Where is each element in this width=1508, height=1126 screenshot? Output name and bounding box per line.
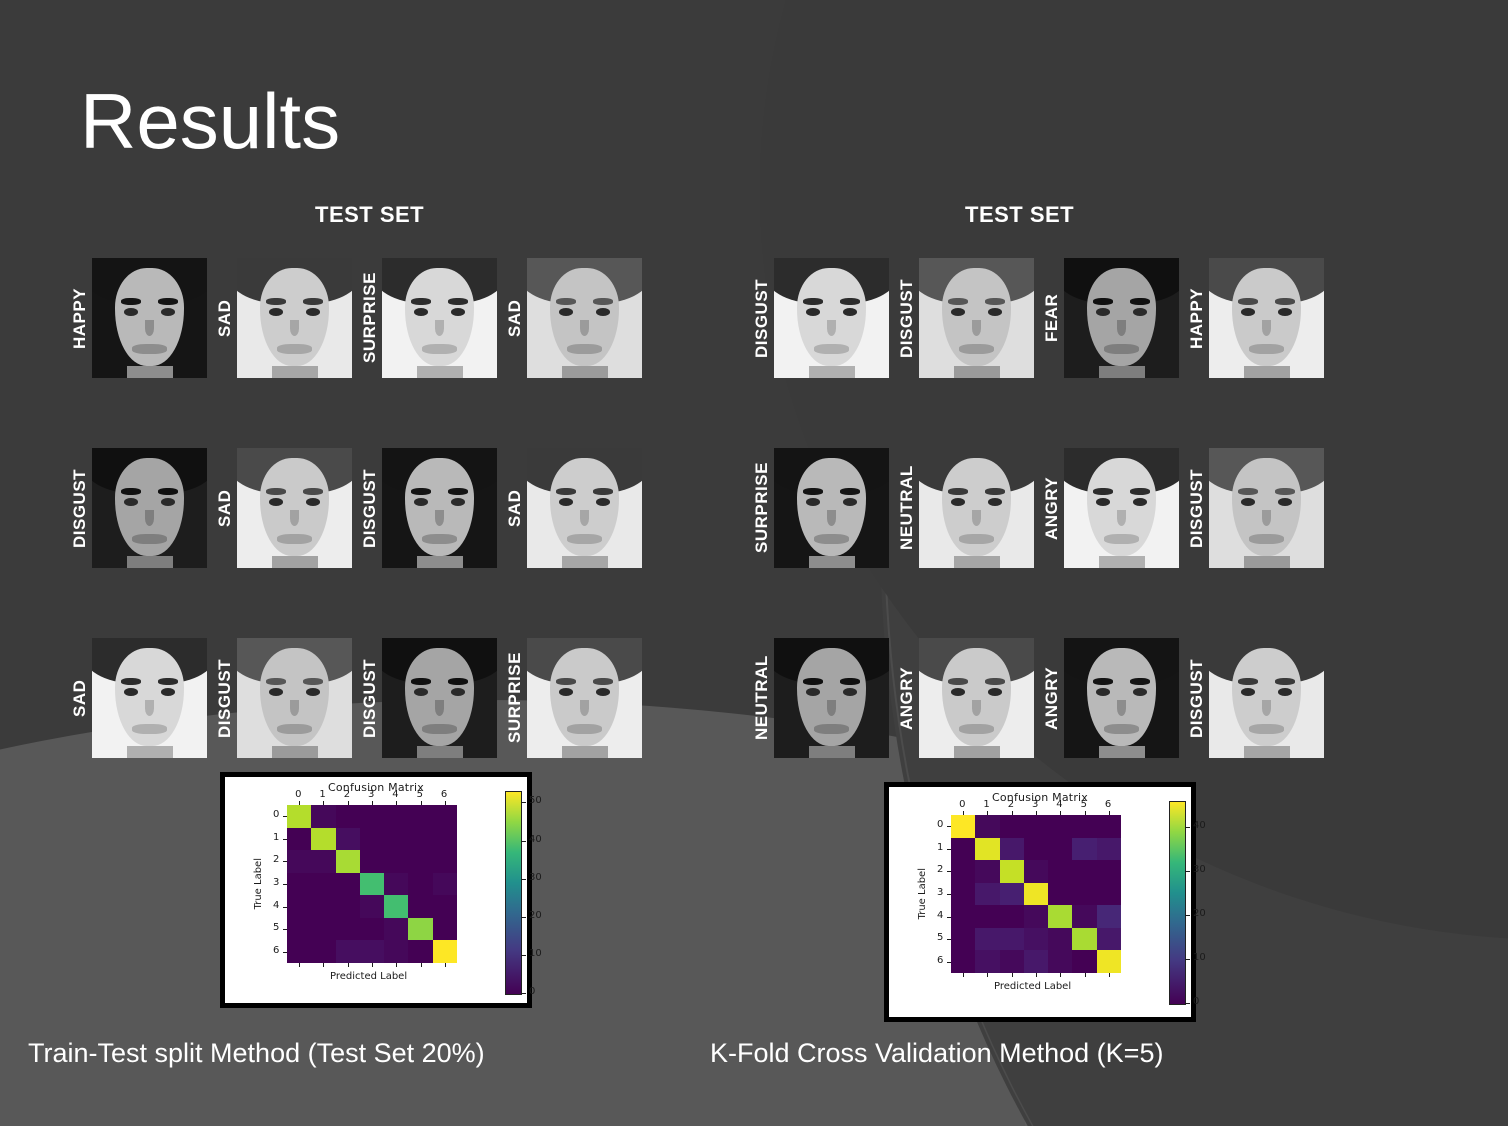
face-emotion-label: SAD (505, 448, 525, 568)
colorbar-tick-label: 10 (529, 948, 542, 959)
face-emotion-label: DISGUST (897, 258, 917, 378)
x-tick-label: 5 (417, 789, 423, 800)
x-tick-mark (1109, 811, 1110, 815)
face-thumbnail (237, 638, 352, 758)
x-tick-mark (396, 801, 397, 805)
x-tick-mark (421, 801, 422, 805)
confusion-matrix-cell (433, 850, 457, 873)
face-sample: SAD (505, 258, 642, 378)
face-sample: ANGRY (1042, 448, 1179, 568)
confusion-matrix-cell (360, 918, 384, 941)
y-tick-mark (283, 907, 287, 908)
face-emotion-label: NEUTRAL (897, 448, 917, 568)
confusion-matrix-cell (1048, 950, 1072, 973)
confusion-matrix-cell (384, 940, 408, 963)
y-tick-label: 2 (273, 854, 279, 865)
face-emotion-label: DISGUST (70, 448, 90, 568)
confusion-matrix-cell (1000, 950, 1024, 973)
x-tick-mark-bottom (1060, 973, 1061, 977)
colorbar-tick-mark (521, 802, 526, 803)
x-tick-mark (348, 801, 349, 805)
colorbar-tick-mark (1185, 871, 1190, 872)
face-emotion-label: SAD (70, 638, 90, 758)
x-tick-mark (1085, 811, 1086, 815)
face-emotion-label: HAPPY (1187, 258, 1207, 378)
confusion-matrix-cell (311, 805, 335, 828)
chart-title: Confusion Matrix (889, 791, 1191, 804)
face-sample: SAD (215, 258, 352, 378)
chart-title: Confusion Matrix (225, 781, 527, 794)
x-tick-mark-bottom (987, 973, 988, 977)
confusion-matrix-cell (336, 850, 360, 873)
confusion-matrix-plot (951, 815, 1121, 973)
x-tick-label: 2 (344, 789, 350, 800)
confusion-matrix-cell (360, 805, 384, 828)
confusion-matrix-cell (433, 828, 457, 851)
y-axis-label: True Label (253, 858, 264, 909)
confusion-matrix-cell (1000, 883, 1024, 906)
face-thumbnail (1064, 448, 1179, 568)
face-emotion-label: SAD (215, 448, 235, 568)
confusion-matrix-cell (1000, 928, 1024, 951)
confusion-matrix-cell (1048, 928, 1072, 951)
confusion-matrix-cell (951, 860, 975, 883)
face-thumbnail (527, 638, 642, 758)
confusion-matrix-cell (975, 905, 999, 928)
x-tick-label: 1 (319, 789, 325, 800)
confusion-matrix-cell (311, 828, 335, 851)
confusion-matrix-cell (287, 828, 311, 851)
confusion-matrix-cell (1000, 838, 1024, 861)
confusion-matrix-cell (384, 805, 408, 828)
x-tick-mark-bottom (396, 963, 397, 967)
face-sample: SAD (70, 638, 207, 758)
face-thumbnail (92, 638, 207, 758)
face-thumbnail (1064, 258, 1179, 378)
confusion-matrix-cell (1097, 860, 1121, 883)
face-sample: HAPPY (1187, 258, 1324, 378)
confusion-matrix-cell (1048, 905, 1072, 928)
x-axis-label: Predicted Label (994, 981, 1071, 992)
x-tick-mark (963, 811, 964, 815)
face-emotion-label: SAD (505, 258, 525, 378)
face-thumbnail (919, 258, 1034, 378)
y-tick-mark (947, 871, 951, 872)
face-thumbnail (527, 258, 642, 378)
face-thumbnail (92, 258, 207, 378)
y-tick-label: 0 (937, 819, 943, 830)
x-axis-label: Predicted Label (330, 971, 407, 982)
colorbar-tick-label: 40 (1193, 820, 1206, 831)
confusion-matrix-cell (287, 850, 311, 873)
confusion-matrix-cell (975, 815, 999, 838)
confusion-matrix-cell (1097, 905, 1121, 928)
face-thumbnail (774, 258, 889, 378)
confusion-matrix-cell (975, 950, 999, 973)
confusion-matrix-cell (360, 850, 384, 873)
confusion-matrix-cell (975, 838, 999, 861)
confusion-matrix-cell (360, 940, 384, 963)
confusion-matrix-cell (1097, 950, 1121, 973)
y-tick-mark (283, 929, 287, 930)
confusion-matrix-cell (1072, 883, 1096, 906)
face-sample: DISGUST (897, 258, 1034, 378)
confusion-matrix-cell (336, 918, 360, 941)
confusion-matrix-cell (311, 918, 335, 941)
y-tick-mark (947, 826, 951, 827)
face-emotion-label: HAPPY (70, 258, 90, 378)
y-tick-mark (283, 816, 287, 817)
confusion-matrix-cell (1048, 860, 1072, 883)
confusion-matrix-cell (975, 860, 999, 883)
confusion-matrix-cell (975, 928, 999, 951)
colorbar-tick-mark (1185, 915, 1190, 916)
colorbar-tick-mark (521, 879, 526, 880)
colorbar-tick-label: 20 (529, 910, 542, 921)
confusion-matrix-cell (336, 805, 360, 828)
confusion-matrix-cell (1072, 860, 1096, 883)
confusion-matrix-cell (1097, 928, 1121, 951)
confusion-matrix-cell (1048, 883, 1072, 906)
confusion-matrix-cell (975, 883, 999, 906)
face-emotion-label: DISGUST (752, 258, 772, 378)
x-tick-mark-bottom (348, 963, 349, 967)
face-sample: FEAR (1042, 258, 1179, 378)
face-emotion-label: SURPRISE (505, 638, 525, 758)
face-sample: ANGRY (897, 638, 1034, 758)
x-tick-label: 6 (441, 789, 447, 800)
x-tick-mark (372, 801, 373, 805)
face-thumbnail (237, 448, 352, 568)
y-tick-label: 1 (937, 842, 943, 853)
confusion-matrix-cell (1000, 860, 1024, 883)
confusion-matrix-cell (1048, 838, 1072, 861)
face-thumbnail (527, 448, 642, 568)
confusion-matrix-plot (287, 805, 457, 963)
confusion-matrix-cell (1024, 815, 1048, 838)
confusion-matrix-cell (311, 895, 335, 918)
x-tick-mark (1060, 811, 1061, 815)
colorbar-tick-label: 50 (529, 795, 542, 806)
face-sample: ANGRY (1042, 638, 1179, 758)
confusion-matrix-cell (433, 940, 457, 963)
face-sample: SURPRISE (505, 638, 642, 758)
confusion-matrix-cell (287, 873, 311, 896)
confusion-matrix-cell (433, 895, 457, 918)
confusion-matrix-cell (408, 828, 432, 851)
face-thumbnail (774, 638, 889, 758)
face-sample: HAPPY (70, 258, 207, 378)
y-tick-label: 1 (273, 832, 279, 843)
confusion-matrix-cell (384, 895, 408, 918)
confusion-matrix-cell (384, 873, 408, 896)
x-tick-mark (299, 801, 300, 805)
confusion-matrix-cell (433, 805, 457, 828)
x-tick-label: 0 (295, 789, 301, 800)
face-thumbnail (1209, 448, 1324, 568)
face-thumbnail (919, 638, 1034, 758)
page-title: Results (80, 82, 340, 160)
y-tick-label: 5 (273, 922, 279, 933)
colorbar-tick-mark (521, 955, 526, 956)
colorbar-tick-label: 20 (1193, 908, 1206, 919)
panel-heading-right: TEST SET (965, 202, 1074, 228)
confusion-matrix-cell (311, 873, 335, 896)
confusion-matrix-cell (433, 873, 457, 896)
y-tick-mark (283, 839, 287, 840)
confusion-matrix-cell (1072, 950, 1096, 973)
colorbar-tick-label: 40 (529, 834, 542, 845)
y-tick-label: 3 (273, 877, 279, 888)
y-tick-label: 4 (273, 900, 279, 911)
colorbar-tick-label: 0 (1193, 996, 1199, 1007)
panel-heading-left: TEST SET (315, 202, 424, 228)
confusion-matrix-cell (360, 873, 384, 896)
x-tick-label: 2 (1008, 799, 1014, 810)
confusion-matrix-cell (1072, 905, 1096, 928)
confusion-matrix-cell (951, 815, 975, 838)
face-sample: SURPRISE (360, 258, 497, 378)
face-sample: DISGUST (215, 638, 352, 758)
confusion-matrix-cell (408, 805, 432, 828)
x-tick-mark-bottom (1012, 973, 1013, 977)
colorbar-tick-mark (521, 993, 526, 994)
confusion-matrix-cell (408, 850, 432, 873)
confusion-matrix-figure-train-test-split: Confusion Matrix01234560123456Predicted … (220, 772, 532, 1008)
face-thumbnail (382, 448, 497, 568)
x-tick-label: 4 (1056, 799, 1062, 810)
face-emotion-label: ANGRY (1042, 448, 1062, 568)
confusion-matrix-cell (1024, 883, 1048, 906)
face-emotion-label: SURPRISE (360, 258, 380, 378)
confusion-matrix-cell (1024, 838, 1048, 861)
face-thumbnail (237, 258, 352, 378)
confusion-matrix-cell (408, 918, 432, 941)
confusion-matrix-cell (1097, 883, 1121, 906)
colorbar-tick-mark (1185, 827, 1190, 828)
confusion-matrix-cell (336, 828, 360, 851)
confusion-matrix-cell (1024, 928, 1048, 951)
y-tick-mark (947, 894, 951, 895)
face-sample: SAD (505, 448, 642, 568)
colorbar-tick-mark (521, 917, 526, 918)
confusion-matrix-cell (1048, 815, 1072, 838)
confusion-matrix-cell (287, 940, 311, 963)
face-sample: DISGUST (752, 258, 889, 378)
face-sample: DISGUST (1187, 448, 1324, 568)
y-tick-label: 5 (937, 932, 943, 943)
y-tick-mark (947, 849, 951, 850)
confusion-matrix-cell (951, 928, 975, 951)
confusion-matrix-cell (1024, 950, 1048, 973)
confusion-matrix-cell (360, 895, 384, 918)
x-tick-mark (323, 801, 324, 805)
confusion-matrix-cell (408, 895, 432, 918)
confusion-matrix-cell (951, 905, 975, 928)
x-tick-label: 1 (983, 799, 989, 810)
confusion-matrix-cell (384, 918, 408, 941)
y-tick-mark (283, 861, 287, 862)
confusion-matrix-cell (951, 950, 975, 973)
face-thumbnail (382, 638, 497, 758)
y-tick-mark (947, 917, 951, 918)
confusion-matrix-figure-k-fold: Confusion Matrix01234560123456Predicted … (884, 782, 1196, 1022)
confusion-matrix-cell (287, 918, 311, 941)
confusion-matrix-cell (287, 895, 311, 918)
face-sample: DISGUST (360, 448, 497, 568)
face-emotion-label: DISGUST (360, 638, 380, 758)
confusion-matrix-cell (433, 918, 457, 941)
confusion-matrix-cell (951, 883, 975, 906)
face-sample: DISGUST (1187, 638, 1324, 758)
x-tick-mark-bottom (1036, 973, 1037, 977)
x-tick-mark-bottom (963, 973, 964, 977)
colorbar-tick-mark (1185, 959, 1190, 960)
confusion-matrix-cell (1000, 905, 1024, 928)
x-tick-label: 5 (1081, 799, 1087, 810)
caption-train-test-split: Train-Test split Method (Test Set 20%) (28, 1038, 485, 1069)
face-emotion-label: FEAR (1042, 258, 1062, 378)
x-tick-mark-bottom (421, 963, 422, 967)
colorbar-tick-mark (1185, 1003, 1190, 1004)
confusion-matrix-cell (1024, 905, 1048, 928)
face-emotion-label: DISGUST (360, 448, 380, 568)
x-tick-mark (1036, 811, 1037, 815)
y-tick-label: 6 (273, 945, 279, 956)
confusion-matrix-cell (287, 805, 311, 828)
face-sample: SURPRISE (752, 448, 889, 568)
x-tick-mark (445, 801, 446, 805)
y-tick-mark (947, 962, 951, 963)
face-thumbnail (92, 448, 207, 568)
confusion-matrix-cell (1000, 815, 1024, 838)
confusion-matrix-cell (360, 828, 384, 851)
y-axis-label: True Label (917, 868, 928, 919)
confusion-matrix-cell (336, 895, 360, 918)
confusion-matrix-cell (1097, 815, 1121, 838)
face-thumbnail (919, 448, 1034, 568)
colorbar-tick-label: 0 (529, 986, 535, 997)
y-tick-mark (283, 952, 287, 953)
confusion-matrix-cell (1072, 838, 1096, 861)
x-tick-label: 6 (1105, 799, 1111, 810)
face-sample: NEUTRAL (897, 448, 1034, 568)
confusion-matrix-cell (408, 873, 432, 896)
face-thumbnail (1209, 638, 1324, 758)
confusion-matrix-cell (951, 838, 975, 861)
face-thumbnail (774, 448, 889, 568)
x-tick-mark-bottom (372, 963, 373, 967)
x-tick-mark (987, 811, 988, 815)
confusion-matrix-cell (1024, 860, 1048, 883)
y-tick-label: 3 (937, 887, 943, 898)
face-sample: DISGUST (360, 638, 497, 758)
colorbar-tick-label: 30 (1193, 864, 1206, 875)
confusion-matrix-cell (336, 940, 360, 963)
confusion-matrix-cell (408, 940, 432, 963)
face-sample: DISGUST (70, 448, 207, 568)
face-emotion-label: DISGUST (1187, 448, 1207, 568)
face-sample: NEUTRAL (752, 638, 889, 758)
x-tick-mark-bottom (445, 963, 446, 967)
x-tick-label: 4 (392, 789, 398, 800)
face-thumbnail (382, 258, 497, 378)
confusion-matrix-cell (1072, 928, 1096, 951)
face-sample: SAD (215, 448, 352, 568)
face-emotion-label: DISGUST (1187, 638, 1207, 758)
y-tick-label: 0 (273, 809, 279, 820)
x-tick-mark-bottom (299, 963, 300, 967)
x-tick-mark-bottom (1109, 973, 1110, 977)
y-tick-label: 6 (937, 955, 943, 966)
caption-k-fold: K-Fold Cross Validation Method (K=5) (710, 1038, 1163, 1069)
x-tick-mark-bottom (323, 963, 324, 967)
confusion-matrix-cell (336, 873, 360, 896)
face-emotion-label: ANGRY (1042, 638, 1062, 758)
face-emotion-label: SURPRISE (752, 448, 772, 568)
face-thumbnail (1064, 638, 1179, 758)
confusion-matrix-cell (384, 828, 408, 851)
x-tick-label: 3 (368, 789, 374, 800)
confusion-matrix-cell (384, 850, 408, 873)
colorbar-tick-label: 10 (1193, 952, 1206, 963)
confusion-matrix-cell (311, 850, 335, 873)
face-thumbnail (1209, 258, 1324, 378)
face-emotion-label: ANGRY (897, 638, 917, 758)
face-emotion-label: NEUTRAL (752, 638, 772, 758)
confusion-matrix-cell (1072, 815, 1096, 838)
confusion-matrix-cell (311, 940, 335, 963)
y-tick-mark (283, 884, 287, 885)
confusion-matrix-cell (1097, 838, 1121, 861)
x-tick-label: 3 (1032, 799, 1038, 810)
face-emotion-label: DISGUST (215, 638, 235, 758)
x-tick-label: 0 (959, 799, 965, 810)
x-tick-mark-bottom (1085, 973, 1086, 977)
x-tick-mark (1012, 811, 1013, 815)
y-tick-label: 4 (937, 910, 943, 921)
colorbar-tick-label: 30 (529, 872, 542, 883)
y-tick-label: 2 (937, 864, 943, 875)
face-emotion-label: SAD (215, 258, 235, 378)
colorbar (1169, 801, 1186, 1005)
colorbar (505, 791, 522, 995)
y-tick-mark (947, 939, 951, 940)
colorbar-tick-mark (521, 841, 526, 842)
